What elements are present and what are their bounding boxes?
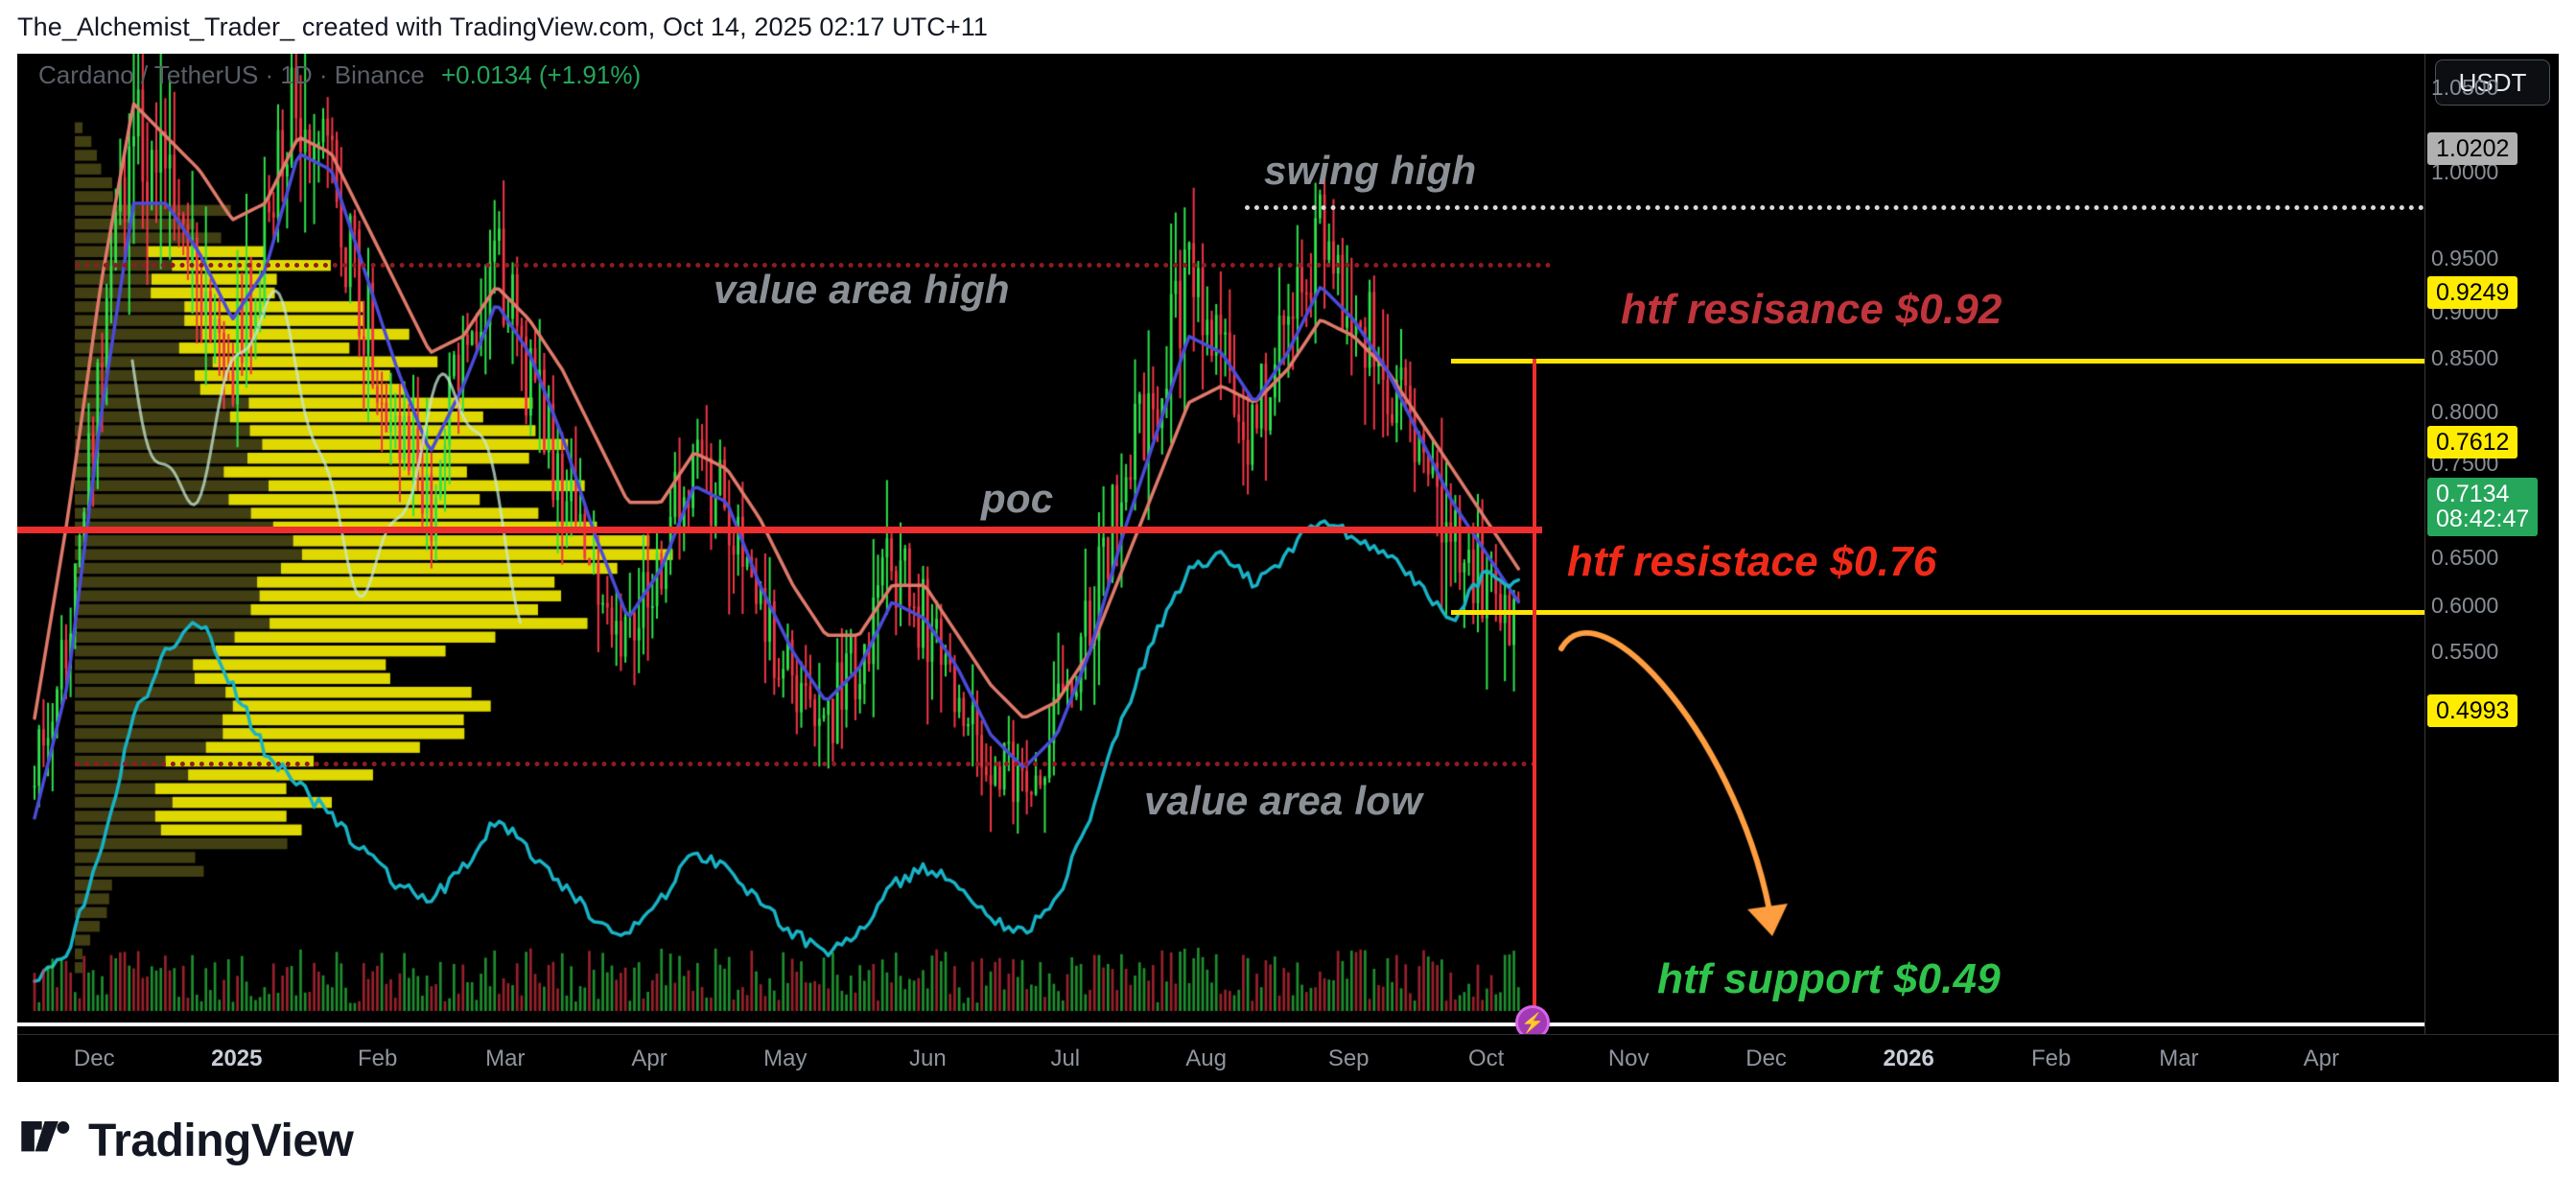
time-tick: Aug <box>1185 1046 1227 1072</box>
value-area-low-line[interactable] <box>75 762 1537 766</box>
time-tick: Sep <box>1328 1046 1370 1072</box>
attribution-text: The_Alchemist_Trader_ created with Tradi… <box>0 12 988 42</box>
time-tick: Jun <box>909 1046 947 1072</box>
time-tick: 2025 <box>211 1046 262 1072</box>
vertical-time-marker[interactable] <box>1533 359 1536 1034</box>
price-scale[interactable]: USDT 1.05001.00000.95000.90000.85000.800… <box>2424 54 2559 1034</box>
price-level-badge[interactable]: 0.4993 <box>2427 694 2517 727</box>
price-tick: 0.9500 <box>2431 246 2498 271</box>
price-tick: 1.0500 <box>2431 75 2498 101</box>
attribution-bar: The_Alchemist_Trader_ created with Tradi… <box>0 0 2576 54</box>
annotation-poc[interactable]: poc <box>981 476 1053 522</box>
time-tick: Dec <box>74 1046 115 1072</box>
time-tick: Oct <box>1468 1046 1504 1072</box>
time-tick: Apr <box>2304 1046 2339 1072</box>
tradingview-logo-icon <box>19 1121 73 1160</box>
time-tick: Feb <box>2031 1046 2071 1072</box>
price-level-badge[interactable]: 0.7612 <box>2427 426 2517 458</box>
price-chart-canvas <box>17 54 2424 1034</box>
price-tick: 0.8000 <box>2431 399 2498 425</box>
entry-marker-icon[interactable]: ⚡ <box>1515 1005 1550 1034</box>
time-tick: Feb <box>358 1046 397 1072</box>
annotation-value-area-low[interactable]: value area low <box>1144 778 1422 824</box>
tradingview-footer: TradingView <box>0 1082 2576 1199</box>
time-tick: Mar <box>485 1046 525 1072</box>
tradingview-wordmark: TradingView <box>88 1115 353 1167</box>
price-tick: 0.8500 <box>2431 345 2498 371</box>
price-tick: 0.6500 <box>2431 545 2498 571</box>
annotation-value-area-high[interactable]: value area high <box>714 267 1010 313</box>
annotation-htf-res-076[interactable]: htf resistace $0.76 <box>1567 538 1936 586</box>
bar-countdown: 08:42:47 <box>2436 506 2529 531</box>
time-tick: 2026 <box>1883 1046 1933 1072</box>
time-tick: Dec <box>1745 1046 1787 1072</box>
swing-high-line[interactable] <box>1245 205 2424 210</box>
time-tick: Mar <box>2159 1046 2198 1072</box>
last-price-badge[interactable]: 0.713408:42:47 <box>2427 478 2538 536</box>
time-tick: Apr <box>631 1046 667 1072</box>
last-price-value: 0.7134 <box>2436 482 2529 506</box>
price-tick: 0.6000 <box>2431 593 2498 619</box>
time-tick: Nov <box>1608 1046 1650 1072</box>
support-049-line[interactable] <box>17 1023 2424 1026</box>
time-tick: Jul <box>1050 1046 1080 1072</box>
price-level-badge[interactable]: 1.0202 <box>2427 132 2517 165</box>
poc-line[interactable] <box>17 527 1542 533</box>
resistance-092-line[interactable] <box>1451 359 2424 364</box>
annotation-htf-res-092[interactable]: htf resisance $0.92 <box>1621 286 2002 334</box>
time-tick: May <box>763 1046 807 1072</box>
chart-plot-area[interactable]: Cardano / TetherUS · 1D · Binance +0.013… <box>17 54 2424 1034</box>
time-scale[interactable]: Dec2025FebMarAprMayJunJulAugSepOctNovDec… <box>17 1034 2559 1082</box>
price-level-badge[interactable]: 0.9249 <box>2427 276 2517 309</box>
annotation-htf-support-049[interactable]: htf support $0.49 <box>1657 955 2001 1003</box>
price-tick: 0.5500 <box>2431 639 2498 665</box>
chart-frame[interactable]: Cardano / TetherUS · 1D · Binance +0.013… <box>17 54 2559 1082</box>
annotation-swing-high[interactable]: swing high <box>1264 148 1476 194</box>
resistance-076-line[interactable] <box>1451 610 2424 615</box>
